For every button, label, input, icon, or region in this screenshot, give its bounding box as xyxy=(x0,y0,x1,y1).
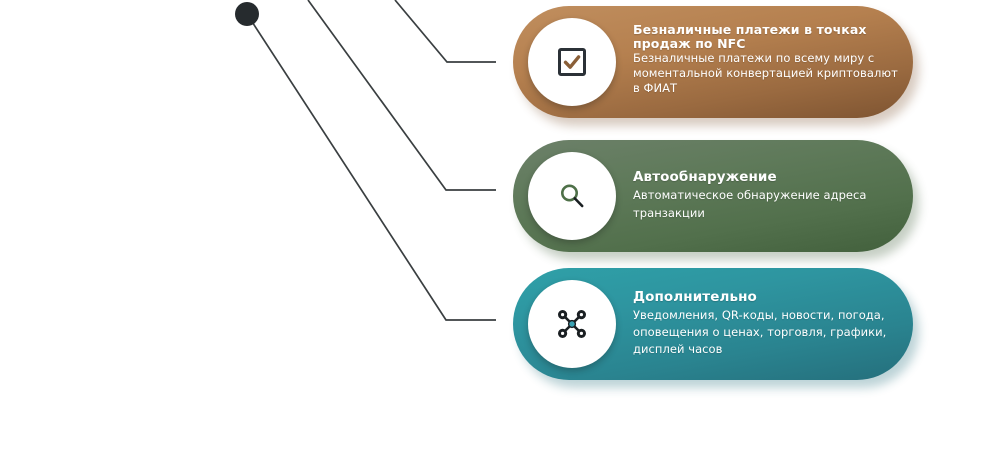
icon-bubble xyxy=(528,152,616,240)
card-title: Автообнаружение xyxy=(633,170,899,185)
icon-bubble xyxy=(528,280,616,368)
origin-node xyxy=(235,2,259,26)
feature-card-auto-detection[interactable]: Автообнаружение Автоматическое обнаружен… xyxy=(513,140,913,252)
connector-line-2 xyxy=(308,0,496,190)
card-text-block: Безналичные платежи в точках продаж по N… xyxy=(633,6,899,118)
network-nodes-icon xyxy=(554,306,590,342)
feature-card-nfc-payments[interactable]: Безналичные платежи в точках продаж по N… xyxy=(513,6,913,118)
card-description: Автоматическое обнаружение адреса транза… xyxy=(633,187,899,222)
connector-line-1 xyxy=(395,0,496,62)
card-description: Уведомления, QR-коды, новости, погода, о… xyxy=(633,307,899,359)
magnifier-icon xyxy=(555,179,589,213)
card-description: Безналичные платежи по всему миру с моме… xyxy=(633,51,899,96)
feature-card-additional[interactable]: Дополнительно Уведомления, QR-коды, ново… xyxy=(513,268,913,380)
checkbox-check-icon xyxy=(555,45,589,79)
card-title: Дополнительно xyxy=(633,290,899,305)
infographic-stage: Безналичные платежи в точках продаж по N… xyxy=(0,0,984,463)
icon-bubble xyxy=(528,18,616,106)
card-text-block: Дополнительно Уведомления, QR-коды, ново… xyxy=(633,268,899,380)
card-title: Безналичные платежи в точках продаж по N… xyxy=(633,23,899,50)
card-text-block: Автообнаружение Автоматическое обнаружен… xyxy=(633,140,899,252)
connector-line-3 xyxy=(247,14,496,320)
